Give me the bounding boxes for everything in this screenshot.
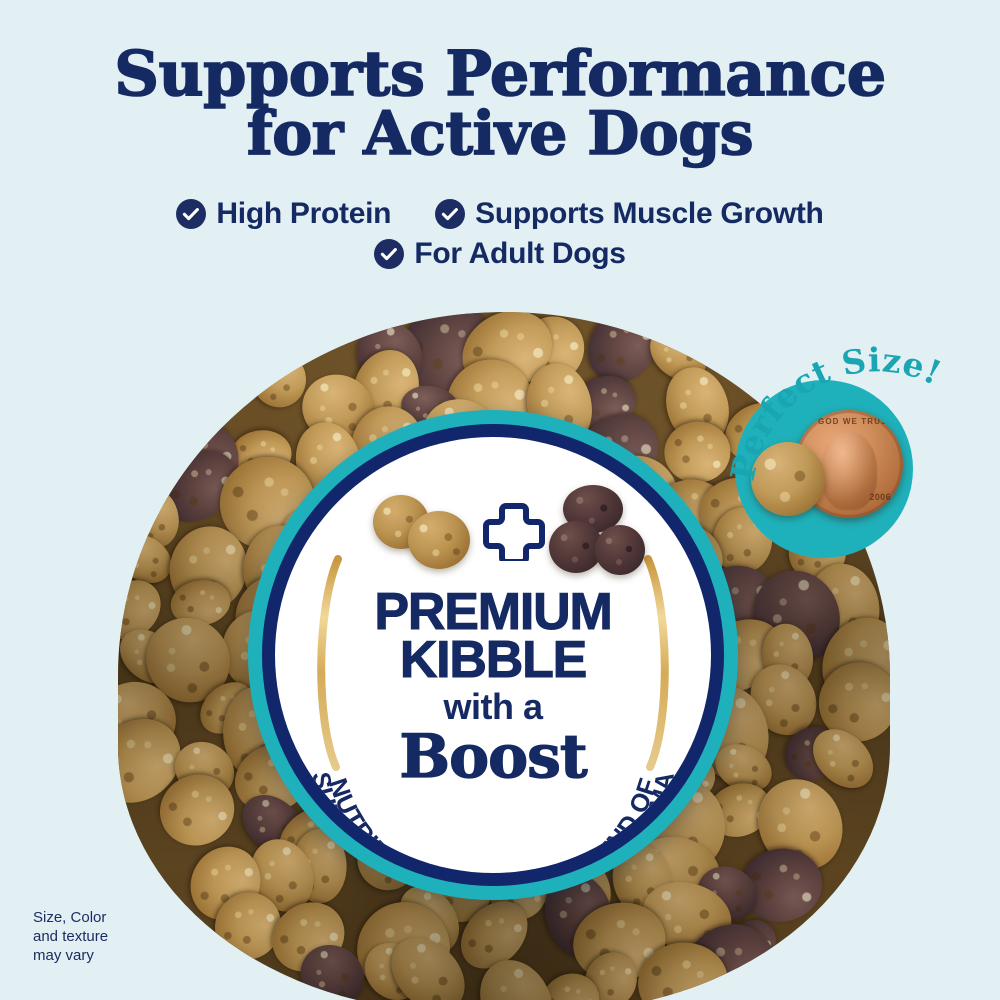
headline-line-1: Supports Performance	[0, 44, 1000, 105]
perfect-size-badge: IN GOD WE TRUST 2006 Perfect Size!	[735, 380, 913, 558]
disclaimer-line-3: may vary	[33, 946, 203, 965]
badge-face: PREMIUM KIBBLE with a Boost NUTRIENTBOOS…	[275, 437, 711, 873]
premium-kibble-badge: PREMIUM KIBBLE with a Boost NUTRIENTBOOS…	[248, 410, 738, 900]
bullet-label: Supports Muscle Growth	[475, 197, 823, 231]
coin-year: 2006	[869, 492, 891, 502]
product-feature-image: Supports Performance for Active Dogs Hig…	[0, 0, 1000, 1000]
plus-cross-icon	[483, 499, 545, 561]
coin-motto: IN GOD WE TRUST	[795, 417, 903, 426]
disclaimer-text: Size, Color and texture may vary	[33, 908, 203, 966]
feature-bullet-list: High Protein Supports Muscle Growth For	[0, 197, 1000, 277]
page-title: Supports Performance for Active Dogs	[0, 44, 1000, 164]
bullet-for-adult-dogs: For Adult Dogs	[374, 237, 625, 271]
disclaimer-line-1: Size, Color	[33, 908, 203, 927]
kibble-piece-icon	[751, 442, 825, 516]
badge-wordmark: PREMIUM KIBBLE with a Boost	[275, 589, 711, 786]
check-circle-icon	[176, 199, 206, 229]
headline-line-2: for Active Dogs	[0, 105, 1000, 164]
check-circle-icon	[435, 199, 465, 229]
bullet-high-protein: High Protein	[176, 197, 391, 231]
badge-kibble-text: KIBBLE	[275, 637, 711, 685]
bullet-label: High Protein	[216, 197, 391, 231]
badge-premium-text: PREMIUM	[275, 589, 711, 637]
bullet-row-2: For Adult Dogs	[0, 237, 1000, 271]
disclaimer-line-2: and texture	[33, 927, 203, 946]
bullet-row-1: High Protein Supports Muscle Growth	[0, 197, 1000, 231]
check-circle-icon	[374, 239, 404, 269]
bullet-supports-muscle-growth: Supports Muscle Growth	[435, 197, 823, 231]
bullet-label: For Adult Dogs	[414, 237, 625, 271]
badge-boost-text: Boost	[275, 729, 711, 787]
